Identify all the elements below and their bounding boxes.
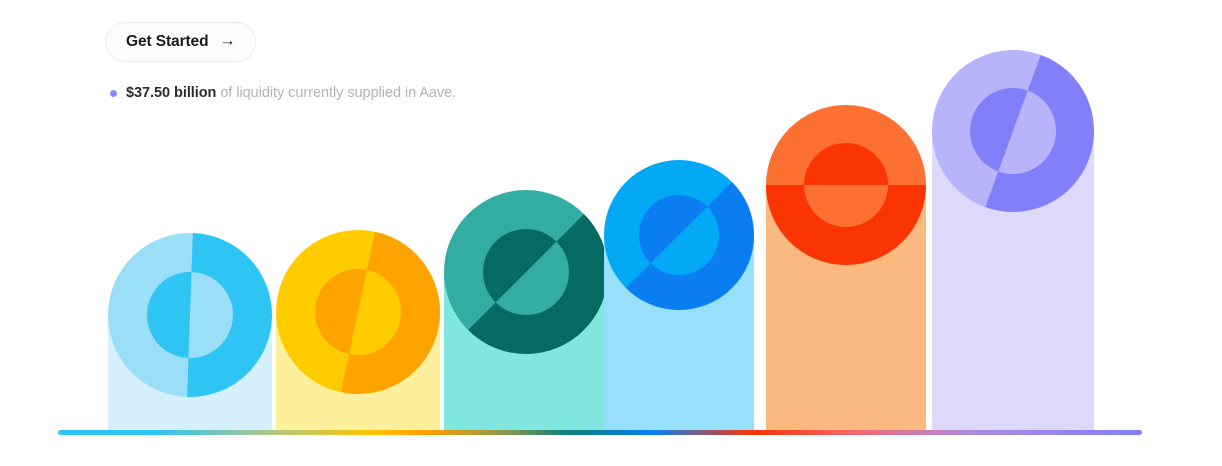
liquidity-bar-chart (0, 0, 1222, 466)
chart-bar[interactable] (766, 105, 926, 430)
donut-core (804, 143, 888, 227)
donut-core (146, 271, 235, 360)
chart-bar-donut (105, 230, 275, 400)
chart-bar[interactable] (932, 50, 1094, 430)
chart-bar-donut (766, 105, 926, 265)
donut-core (307, 261, 409, 363)
chart-bar-donut (261, 215, 456, 410)
page-root: Get Started → $37.50 billion of liquidit… (0, 0, 1222, 466)
chart-baseline-rule (58, 430, 1142, 435)
chart-bar[interactable] (604, 160, 754, 430)
chart-bar[interactable] (276, 230, 440, 430)
chart-bar[interactable] (108, 233, 272, 430)
